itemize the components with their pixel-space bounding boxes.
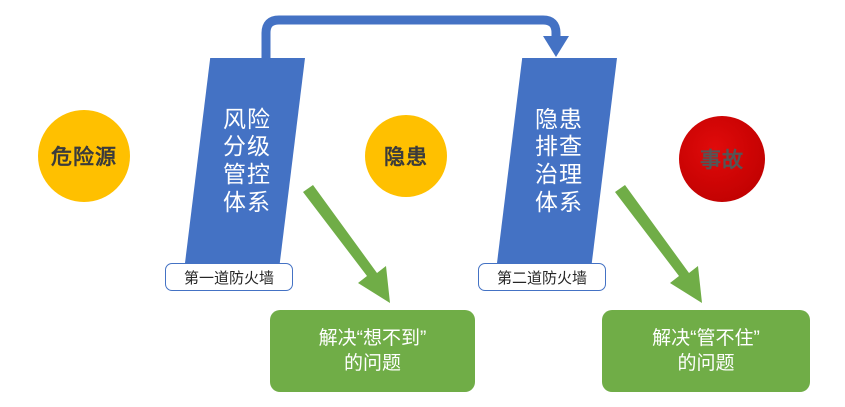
node-accident[interactable]: 事故	[679, 116, 765, 202]
inspection-line-1: 隐患	[535, 106, 583, 133]
outcome-left-line-1: 解决“想不到”	[319, 326, 427, 351]
outcome-box-left[interactable]: 解决“想不到” 的问题	[270, 310, 475, 392]
firewall-first-text: 第一道防火墙	[184, 267, 274, 288]
outcome-left-line-2: 的问题	[344, 351, 401, 376]
outcome-right-line-1: 解决“管不住”	[652, 326, 760, 351]
node-risk-control-system[interactable]: 风险 分级 管控 体系	[185, 58, 305, 263]
risk-control-system-text: 风险 分级 管控 体系	[185, 58, 305, 263]
inspection-line-4: 体系	[535, 189, 583, 216]
hidden-danger-label: 隐患	[384, 141, 428, 171]
risk-line-2: 分级	[223, 133, 271, 160]
risk-line-4: 体系	[223, 189, 271, 216]
inspection-line-2: 排查	[535, 133, 583, 160]
diagram-canvas: 危险源 风险 分级 管控 体系 隐患 隐患 排查 治理 体系 事故 第一道防火墙…	[0, 0, 845, 407]
inspection-line-3: 治理	[535, 161, 583, 188]
accident-label: 事故	[700, 144, 744, 174]
node-inspection-system[interactable]: 隐患 排查 治理 体系	[497, 58, 617, 263]
risk-line-1: 风险	[223, 106, 271, 133]
hazard-source-label: 危险源	[51, 141, 117, 171]
firewall-second-text: 第二道防火墙	[497, 267, 587, 288]
firewall-label-second[interactable]: 第二道防火墙	[478, 263, 606, 291]
risk-line-3: 管控	[223, 161, 271, 188]
outcome-right-line-2: 的问题	[677, 351, 734, 376]
node-hidden-danger[interactable]: 隐患	[365, 115, 447, 197]
outcome-box-right[interactable]: 解决“管不住” 的问题	[602, 310, 810, 392]
firewall-label-first[interactable]: 第一道防火墙	[165, 263, 293, 291]
green-diagonal-arrow-right	[615, 185, 702, 303]
inspection-system-text: 隐患 排查 治理 体系	[497, 58, 617, 263]
node-hazard-source[interactable]: 危险源	[38, 110, 130, 202]
green-diagonal-arrow-left	[303, 185, 390, 303]
